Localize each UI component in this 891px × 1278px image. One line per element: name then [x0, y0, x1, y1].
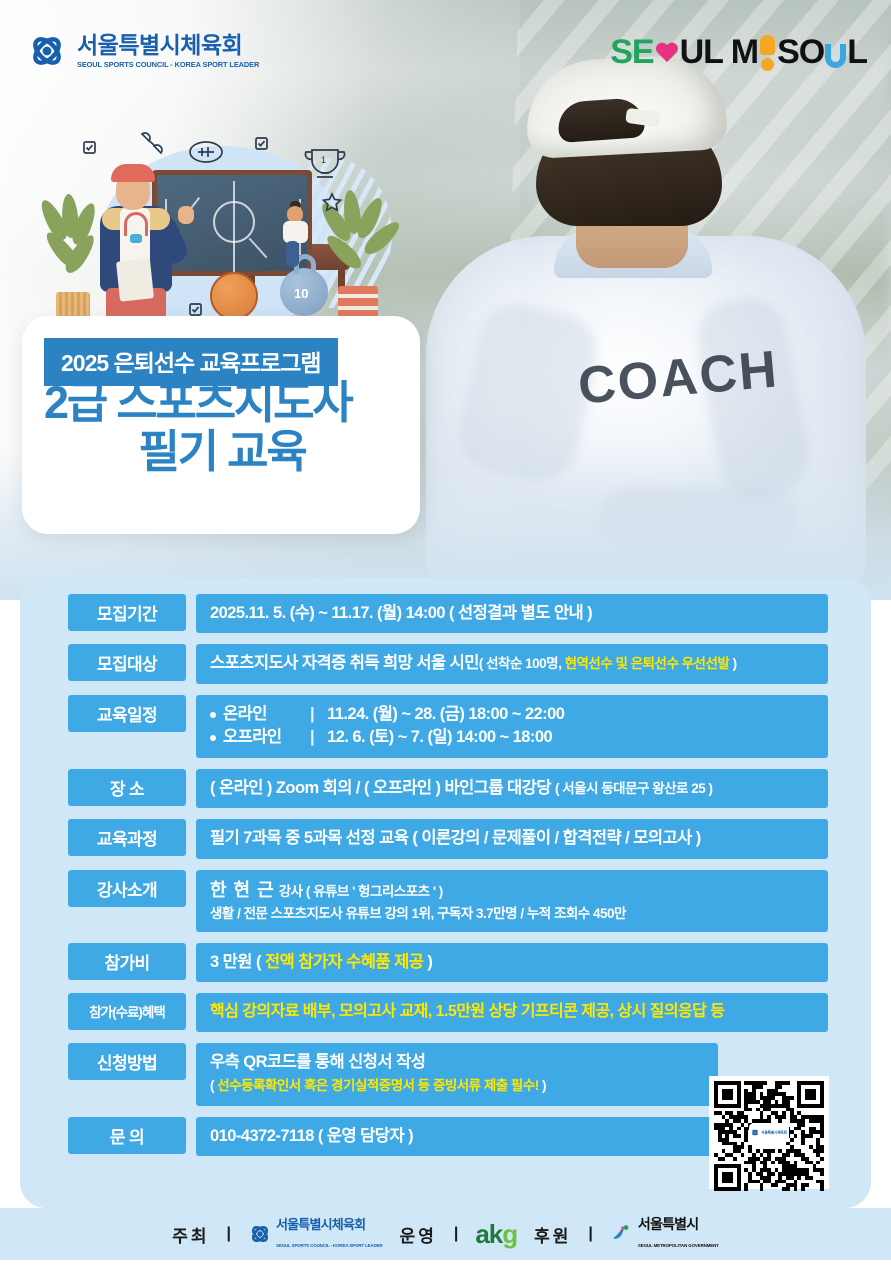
akg-g: g [502, 1219, 517, 1249]
instructor-name: 한 현 근 [210, 880, 275, 900]
footer-sponsor-logo: 서울특별시 SEOUL METROPOLITAN GOVERNMENT [610, 1216, 719, 1252]
sports-council-mark-icon [248, 1222, 272, 1246]
row-label-location: 장 소 [68, 769, 186, 806]
footer-host-en: SEOUL SPORTS COUNCIL - KOREA SPORT LEADE… [276, 1243, 383, 1248]
bullet-icon [210, 712, 216, 718]
bottom-padding [0, 1260, 891, 1278]
row-value-contact: 010-4372-7118 ( 운영 담당자 ) [196, 1117, 718, 1156]
row-value-apply: 우측 QR코드를 통해 신청서 작성 ( 선수등록확인서 혹은 경기실적증명서 … [196, 1043, 718, 1106]
table-row: 모집기간 2025.11. 5. (수) ~ 11.17. (월) 14:00 … [68, 594, 828, 633]
qr-center-logo: 서울특별시체육회 [749, 1123, 789, 1142]
schedule-item-online: 온라인 | 11.24. (월) ~ 28. (금) 18:00 ~ 22:00 [210, 703, 814, 726]
seated-athlete-figure [278, 206, 312, 270]
bullet-icon [210, 735, 216, 741]
basketball-icon [210, 272, 258, 320]
fee-pre: 3 만원 ( [210, 953, 265, 971]
row-label-curriculum: 교육과정 [68, 819, 186, 856]
board-center-circle [213, 201, 255, 243]
target-sub-pre: ( 선착순 100명, [479, 656, 565, 671]
benefits-text: 핵심 강의자료 배부, 모의고사 교재, 1.5만원 상당 기프티콘 제공, 상… [210, 1001, 814, 1024]
sms-part-se: SE [610, 35, 653, 69]
page-title: 2급 스포츠지도사 필기 교육 [44, 378, 400, 476]
row-label-recruit-period: 모집기간 [68, 594, 186, 631]
target-sub-post: ) [729, 656, 736, 671]
footer-divider: | [588, 1225, 592, 1243]
row-label-apply: 신청방법 [68, 1043, 186, 1080]
exclamation-icon [760, 35, 775, 71]
row-value-curriculum: 필기 7과목 중 5과목 선정 교육 ( 이론강의 / 문제풀이 / 합격전략 … [196, 819, 828, 858]
row-value-schedule: 온라인 | 11.24. (월) ~ 28. (금) 18:00 ~ 22:00… [196, 695, 828, 758]
footer-sponsor-label: 후원 [534, 1222, 571, 1247]
schedule-item-offline: 오프라인 | 12. 6. (토) ~ 7. (일) 14:00 ~ 18:00 [210, 726, 814, 749]
target-main: 스포츠지도사 자격증 취득 희망 서울 시민 [210, 654, 479, 672]
footer-host-logo: 서울특별시체육회 SEOUL SPORTS COUNCIL - KOREA SP… [248, 1216, 383, 1252]
footer-sponsor-ko: 서울특별시 [638, 1216, 698, 1232]
footer-operator-label: 운영 [400, 1222, 437, 1247]
row-value-fee: 3 만원 ( 전액 참가자 수혜품 제공 ) [196, 943, 828, 982]
table-row: 교육과정 필기 7과목 중 5과목 선정 교육 ( 이론강의 / 문제풀이 / … [68, 819, 828, 858]
title-line-1: 2급 스포츠지도사 [44, 377, 352, 428]
title-line-2: 필기 교육 [44, 427, 400, 476]
schedule-separator: | [310, 726, 314, 749]
table-row: 강사소개 한 현 근 강사 ( 유튜브 ' 헝그리스포츠 ' ) 생활 / 전문… [68, 870, 828, 932]
row-label-contact: 문 의 [68, 1117, 186, 1154]
heart-icon [655, 42, 679, 66]
sports-illustration: 10 [42, 128, 402, 334]
instructor-channel: 강사 ( 유튜브 ' 헝그리스포츠 ' ) [279, 884, 443, 899]
row-label-fee: 참가비 [68, 943, 186, 980]
schedule-detail-online: 11.24. (월) ~ 28. (금) 18:00 ~ 22:00 [327, 703, 564, 726]
akg-ak: ak [475, 1219, 502, 1249]
footer-divider: | [227, 1225, 231, 1243]
location-address: ( 서울시 동대문구 왕산로 25 ) [555, 781, 712, 796]
sms-part-so: SO [777, 35, 824, 69]
fee-post: ) [423, 953, 432, 971]
seoul-my-soul-logo: SE UL M SO L [610, 34, 867, 70]
row-value-target: 스포츠지도사 자격증 취득 희망 서울 시민( 선착순 100명, 현역선수 및… [196, 644, 828, 683]
footer-operator-logo: akg [475, 1221, 517, 1247]
application-qr-code[interactable]: 서울특별시체육회 [709, 1076, 829, 1189]
kettlebell-weight-label: 10 [294, 286, 308, 301]
footer: 주최 | 서울특별시체육회 SEOUL SPORTS COUNCIL - KOR… [0, 1208, 891, 1260]
schedule-mode-offline: 오프라인 [223, 726, 297, 749]
row-label-target: 모집대상 [68, 644, 186, 681]
apply-sub-highlight: 선수등록확인서 혹은 경기실적증명서 등 증빙서류 제출 필수! [217, 1078, 539, 1093]
sports-council-mark-icon [26, 30, 68, 72]
logo-english-name: SEOUL SPORTS COUNCIL - KOREA SPORT LEADE… [77, 60, 259, 69]
table-row: 모집대상 스포츠지도사 자격증 취득 희망 서울 시민( 선착순 100명, 현… [68, 644, 828, 683]
apply-sub-post: ) [539, 1078, 546, 1093]
plant-left [42, 194, 100, 304]
poster-root: COACH [0, 0, 891, 1278]
row-value-location: ( 온라인 ) Zoom 회의 / ( 오프라인 ) 바인그룹 대강당 ( 서울… [196, 769, 828, 808]
fee-highlight: 전액 참가자 수혜품 제공 [265, 953, 423, 971]
instructor-stats: 생활 / 전문 스포츠지도사 유튜브 강의 1위, 구독자 3.7만명 / 누적… [210, 904, 814, 923]
table-row: 참가비 3 만원 ( 전액 참가자 수혜품 제공 ) [68, 943, 828, 982]
u-shape-icon [825, 44, 846, 68]
sms-part-l: L [847, 35, 867, 69]
footer-host-label: 주최 [172, 1222, 209, 1247]
qr-logo-text: 서울특별시체육회 [761, 1130, 787, 1135]
qr-logo-mark-icon [751, 1129, 759, 1137]
sms-part-ulm: UL M [680, 35, 758, 69]
table-row: 참가(수료)혜택 핵심 강의자료 배부, 모의고사 교재, 1.5만원 상당 기… [68, 993, 828, 1032]
row-value-instructor: 한 현 근 강사 ( 유튜브 ' 헝그리스포츠 ' ) 생활 / 전문 스포츠지… [196, 870, 828, 932]
schedule-detail-offline: 12. 6. (토) ~ 7. (일) 14:00 ~ 18:00 [327, 726, 552, 749]
seoul-city-mark-icon [610, 1222, 634, 1246]
footer-divider: | [454, 1225, 458, 1243]
seoul-sports-council-logo: 서울특별시체육회 SEOUL SPORTS COUNCIL - KOREA SP… [26, 30, 259, 72]
info-panel: 모집기간 2025.11. 5. (수) ~ 11.17. (월) 14:00 … [20, 578, 871, 1208]
row-label-instructor: 강사소개 [68, 870, 186, 907]
apply-main: 우측 QR코드를 통해 신청서 작성 [210, 1051, 704, 1074]
footer-host-ko: 서울특별시체육회 [276, 1217, 365, 1232]
row-label-schedule: 교육일정 [68, 695, 186, 732]
schedule-separator: | [310, 703, 314, 726]
target-sub-highlight: 현역선수 및 은퇴선수 우선선발 [565, 656, 730, 671]
coach-illustration-figure [94, 156, 182, 326]
location-main: ( 온라인 ) Zoom 회의 / ( 오프라인 ) 바인그룹 대강당 [210, 779, 551, 797]
table-row: 교육일정 온라인 | 11.24. (월) ~ 28. (금) 18:00 ~ … [68, 695, 828, 758]
schedule-mode-online: 온라인 [223, 703, 297, 726]
row-value-benefits: 핵심 강의자료 배부, 모의고사 교재, 1.5만원 상당 기프티콘 제공, 상… [196, 993, 828, 1032]
footer-sponsor-en: SEOUL METROPOLITAN GOVERNMENT [638, 1243, 719, 1248]
table-row: 장 소 ( 온라인 ) Zoom 회의 / ( 오프라인 ) 바인그룹 대강당 … [68, 769, 828, 808]
qr-grid: 서울특별시체육회 [714, 1081, 824, 1184]
row-label-benefits: 참가(수료)혜택 [68, 993, 186, 1030]
logo-korean-name: 서울특별시체육회 [77, 34, 259, 57]
row-value-recruit-period: 2025.11. 5. (수) ~ 11.17. (월) 14:00 ( 선정결… [196, 594, 828, 633]
